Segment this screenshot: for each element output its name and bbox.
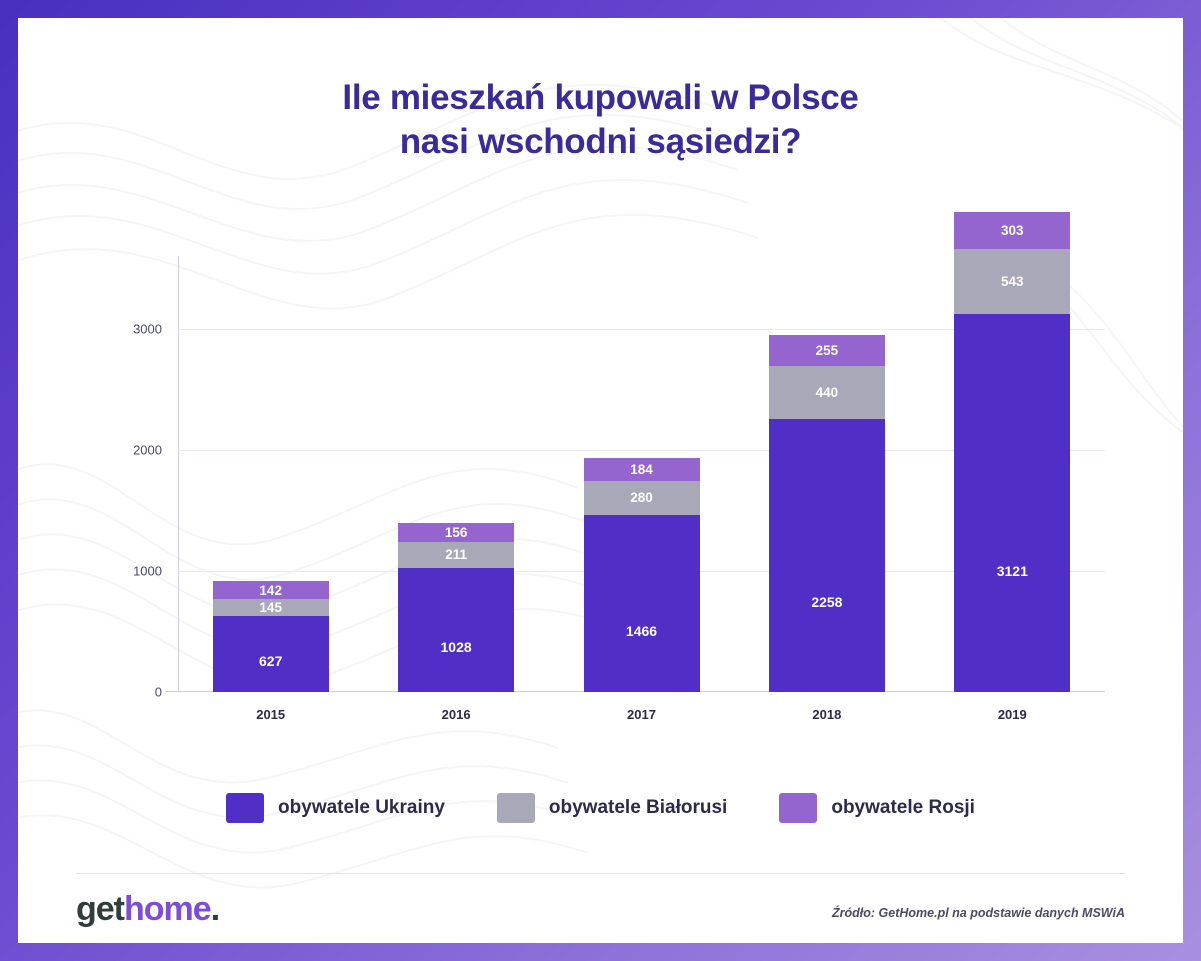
bar-segment[interactable]: 303	[954, 212, 1070, 249]
stacked-bar-chart: 0100020003000 62714514220151028211156201…	[18, 198, 1183, 758]
y-axis-tick-label: 1000	[133, 564, 162, 579]
bar-value-label: 303	[1001, 223, 1024, 238]
logo-text-home: home	[124, 890, 211, 928]
bar-segment[interactable]: 1028	[398, 568, 514, 692]
y-axis-line	[178, 256, 179, 692]
bar-segment[interactable]: 142	[213, 581, 329, 598]
bar-value-label: 2258	[811, 594, 842, 610]
bar-value-label: 627	[259, 653, 282, 669]
legend-label: obywatele Ukrainy	[278, 797, 445, 819]
bar-value-label: 1466	[626, 623, 657, 639]
x-axis-tick-label: 2017	[584, 707, 700, 722]
bar-segment[interactable]: 211	[398, 542, 514, 568]
bar-value-label: 3121	[997, 563, 1028, 579]
bar-value-label: 255	[816, 343, 839, 358]
bar-value-label: 184	[630, 462, 653, 477]
x-axis-tick-label: 2016	[398, 707, 514, 722]
logo-text-get: get	[76, 890, 124, 928]
bar-segment[interactable]: 280	[584, 481, 700, 515]
bar-segment[interactable]: 440	[769, 366, 885, 419]
bar-group[interactable]: 6271451422015	[213, 581, 329, 692]
y-axis-tick-label: 2000	[133, 443, 162, 458]
legend-label: obywatele Rosji	[831, 797, 975, 819]
bar-segment[interactable]: 145	[213, 599, 329, 617]
infographic-canvas: Ile mieszkań kupowali w Polsce nasi wsch…	[18, 18, 1183, 943]
bar-segment[interactable]: 255	[769, 335, 885, 366]
bar-segment[interactable]: 543	[954, 249, 1070, 315]
legend-label: obywatele Białorusi	[549, 797, 727, 819]
bar-group[interactable]: 31215433032019	[954, 212, 1070, 692]
footer-divider	[76, 873, 1125, 874]
legend-swatch	[226, 793, 264, 823]
bar-value-label: 156	[445, 525, 468, 540]
page-title-line-2: nasi wschodni sąsiedzi?	[18, 120, 1183, 164]
bar-group[interactable]: 22584402552018	[769, 335, 885, 692]
legend-swatch	[779, 793, 817, 823]
bar-segment[interactable]: 2258	[769, 419, 885, 692]
bar-value-label: 1028	[441, 639, 472, 655]
infographic-page: Ile mieszkań kupowali w Polsce nasi wsch…	[0, 0, 1201, 961]
legend-item-russia[interactable]: obywatele Rosji	[779, 793, 975, 823]
logo-text-dot: .	[211, 890, 219, 928]
chart-plot-area: 0100020003000 62714514220151028211156201…	[178, 208, 1105, 692]
source-note: Źródło: GetHome.pl na podstawie danych M…	[832, 906, 1125, 920]
bar-value-label: 142	[259, 583, 282, 598]
bar-segment[interactable]: 3121	[954, 314, 1070, 692]
legend-swatch	[497, 793, 535, 823]
y-axis-tick-label: 3000	[133, 322, 162, 337]
gethome-logo: gethome.	[76, 890, 219, 929]
x-axis-tick-label: 2018	[769, 707, 885, 722]
bar-value-label: 145	[259, 600, 282, 615]
chart-legend: obywatele Ukrainyobywatele Białorusiobyw…	[18, 793, 1183, 823]
bar-segment[interactable]: 184	[584, 458, 700, 480]
bar-group[interactable]: 14662801842017	[584, 458, 700, 692]
legend-item-belarus[interactable]: obywatele Białorusi	[497, 793, 727, 823]
x-axis-tick-label: 2015	[213, 707, 329, 722]
x-axis-tick-label: 2019	[954, 707, 1070, 722]
page-title: Ile mieszkań kupowali w Polsce nasi wsch…	[18, 76, 1183, 164]
bar-value-label: 211	[445, 547, 467, 562]
legend-item-ukraine[interactable]: obywatele Ukrainy	[226, 793, 445, 823]
bar-segment[interactable]: 156	[398, 523, 514, 542]
bar-group[interactable]: 10282111562016	[398, 523, 514, 692]
bar-value-label: 280	[630, 490, 653, 505]
y-axis-tick-label: 0	[155, 685, 162, 700]
bar-value-label: 543	[1001, 274, 1024, 289]
page-title-line-1: Ile mieszkań kupowali w Polsce	[18, 76, 1183, 120]
bar-segment[interactable]: 1466	[584, 515, 700, 692]
bar-value-label: 440	[816, 385, 839, 400]
bar-segment[interactable]: 627	[213, 616, 329, 692]
